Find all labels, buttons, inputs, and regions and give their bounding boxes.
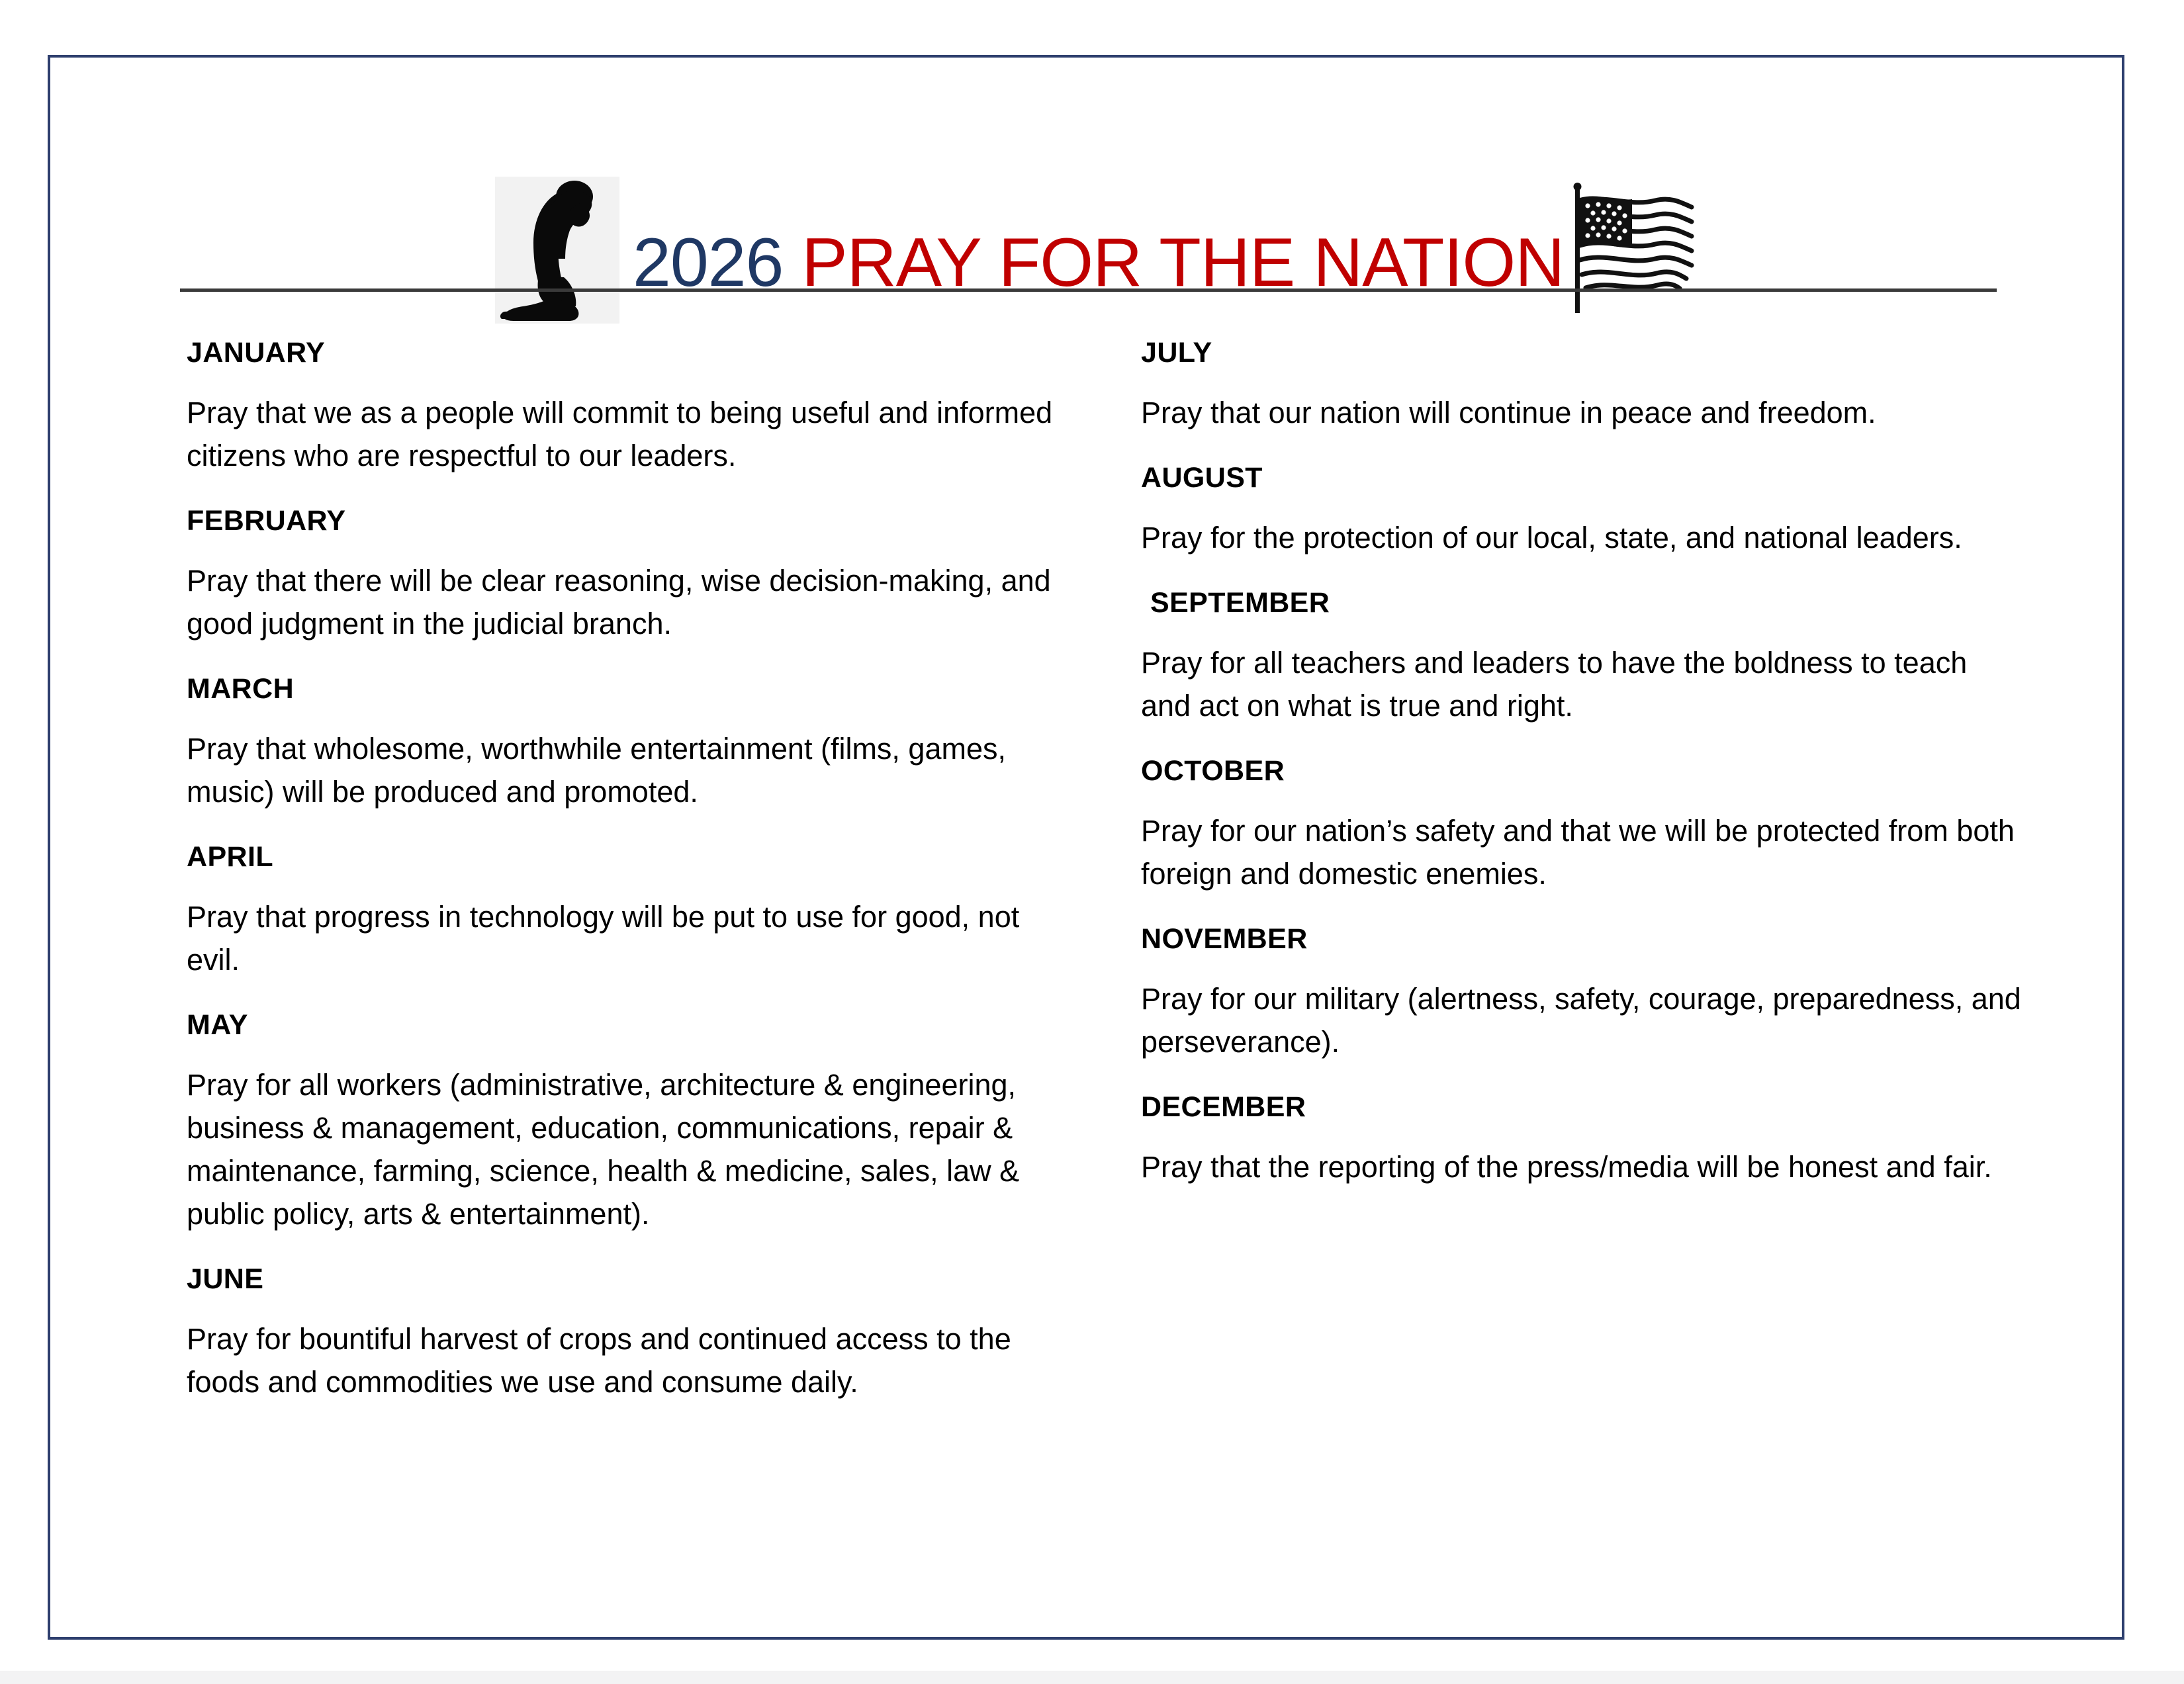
page-border-frame: 2026 PRAY FOR THE NATION <box>48 55 2124 1640</box>
month-heading-august: AUGUST <box>1141 461 2028 495</box>
month-text-june: Pray for bountiful harvest of crops and … <box>187 1317 1067 1403</box>
month-text-august: Pray for the protection of our local, st… <box>1141 516 2021 559</box>
month-text-september: Pray for all teachers and leaders to hav… <box>1141 641 2021 727</box>
praying-person-icon <box>495 177 619 324</box>
month-text-november: Pray for our military (alertness, safety… <box>1141 977 2021 1063</box>
month-heading-september: SEPTEMBER <box>1141 586 2028 620</box>
bottom-gray-strip <box>0 1671 2184 1684</box>
month-block-august: AUGUST Pray for the protection of our lo… <box>1141 461 2028 559</box>
months-columns: JANUARY Pray that we as a people will co… <box>50 335 2127 1626</box>
month-block-january: JANUARY Pray that we as a people will co… <box>187 335 1073 477</box>
month-text-july: Pray that our nation will continue in pe… <box>1141 391 2021 434</box>
month-text-february: Pray that there will be clear reasoning,… <box>187 559 1067 645</box>
left-month-column: JANUARY Pray that we as a people will co… <box>187 335 1073 1403</box>
month-text-october: Pray for our nation’s safety and that we… <box>1141 809 2021 895</box>
month-text-january: Pray that we as a people will commit to … <box>187 391 1067 477</box>
month-block-march: MARCH Pray that wholesome, worthwhile en… <box>187 672 1073 813</box>
month-block-september: SEPTEMBER Pray for all teachers and lead… <box>1141 586 2028 727</box>
month-heading-june: JUNE <box>187 1262 1073 1296</box>
header-banner: 2026 PRAY FOR THE NATION <box>50 120 2127 332</box>
month-heading-july: JULY <box>1141 335 2028 370</box>
month-text-march: Pray that wholesome, worthwhile entertai… <box>187 727 1067 813</box>
month-heading-april: APRIL <box>187 840 1073 874</box>
month-heading-december: DECEMBER <box>1141 1090 2028 1124</box>
month-text-april: Pray that progress in technology will be… <box>187 895 1067 981</box>
month-block-october: OCTOBER Pray for our nation’s safety and… <box>1141 754 2028 895</box>
month-text-may: Pray for all workers (administrative, ar… <box>187 1063 1067 1235</box>
month-heading-january: JANUARY <box>187 335 1073 370</box>
right-month-column: JULY Pray that our nation will continue … <box>1141 335 2028 1188</box>
us-flag-icon <box>1566 178 1705 317</box>
header-divider-rule <box>180 288 1997 292</box>
month-block-november: NOVEMBER Pray for our military (alertnes… <box>1141 922 2028 1063</box>
month-heading-may: MAY <box>187 1008 1073 1042</box>
month-block-april: APRIL Pray that progress in technology w… <box>187 840 1073 981</box>
month-block-december: DECEMBER Pray that the reporting of the … <box>1141 1090 2028 1188</box>
month-heading-november: NOVEMBER <box>1141 922 2028 956</box>
month-block-february: FEBRUARY Pray that there will be clear r… <box>187 504 1073 645</box>
month-heading-february: FEBRUARY <box>187 504 1073 538</box>
month-heading-march: MARCH <box>187 672 1073 706</box>
month-block-june: JUNE Pray for bountiful harvest of crops… <box>187 1262 1073 1403</box>
page-sheet: 2026 PRAY FOR THE NATION <box>0 0 2184 1671</box>
month-text-december: Pray that the reporting of the press/med… <box>1141 1145 2021 1188</box>
month-block-july: JULY Pray that our nation will continue … <box>1141 335 2028 434</box>
month-heading-october: OCTOBER <box>1141 754 2028 788</box>
month-block-may: MAY Pray for all workers (administrative… <box>187 1008 1073 1235</box>
